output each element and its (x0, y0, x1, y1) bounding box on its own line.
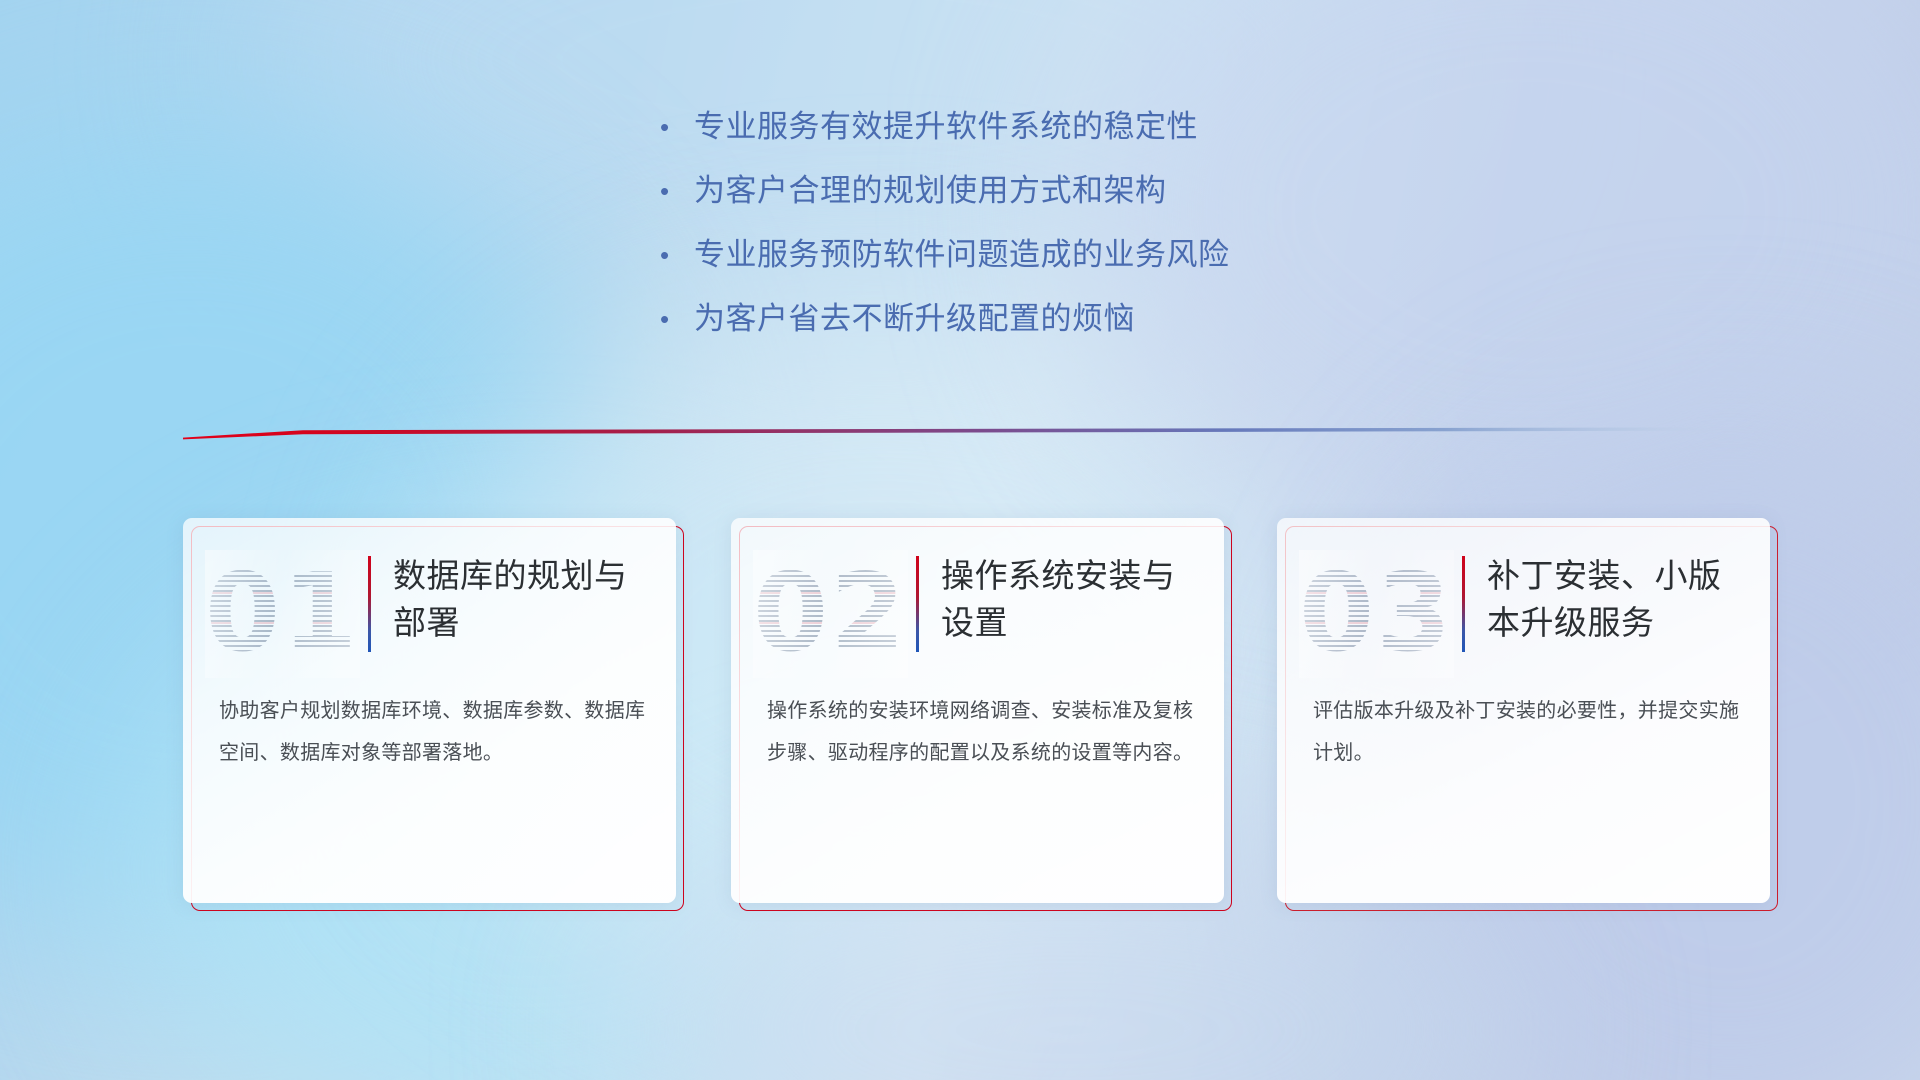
card-panel: 01 01 数据库的规划与部署 协助客户规划数据库环境、数据库参数、数据库空间、… (183, 518, 676, 903)
service-card[interactable]: 01 01 数据库的规划与部署 协助客户规划数据库环境、数据库参数、数据库空间、… (183, 518, 676, 903)
card-header: 03 03 补丁安装、小版本升级服务 (1277, 518, 1770, 686)
card-number-watermark: 02 02 (753, 550, 908, 678)
card-accent-rule (916, 556, 919, 652)
bullet-text: 专业服务预防软件问题造成的业务风险 (694, 236, 1230, 274)
list-item: • 为客户合理的规划使用方式和架构 (660, 172, 1520, 236)
card-body-text: 评估版本升级及补丁安装的必要性，并提交实施计划。 (1277, 686, 1770, 774)
bullet-marker-icon: • (660, 172, 694, 210)
card-panel: 03 03 补丁安装、小版本升级服务 评估版本升级及补丁安装的必要性，并提交实施… (1277, 518, 1770, 903)
list-item: • 专业服务预防软件问题造成的业务风险 (660, 236, 1520, 300)
bullet-marker-icon: • (660, 236, 694, 274)
section-divider (183, 424, 1720, 440)
bullet-marker-icon: • (660, 108, 694, 146)
benefits-bullet-list: • 专业服务有效提升软件系统的稳定性 • 为客户合理的规划使用方式和架构 • 专… (660, 108, 1520, 364)
card-number-tint: 02 (753, 550, 908, 678)
card-body-text: 操作系统的安装环境网络调查、安装标准及复核步骤、驱动程序的配置以及系统的设置等内… (731, 686, 1224, 774)
card-number-tint: 01 (205, 550, 360, 678)
card-title: 数据库的规划与部署 (393, 542, 643, 646)
bullet-marker-icon: • (660, 300, 694, 338)
card-header: 01 01 数据库的规划与部署 (183, 518, 676, 686)
card-title: 操作系统安装与设置 (941, 542, 1191, 646)
card-number-watermark: 01 01 (205, 550, 360, 678)
service-card[interactable]: 03 03 补丁安装、小版本升级服务 评估版本升级及补丁安装的必要性，并提交实施… (1277, 518, 1770, 903)
card-title: 补丁安装、小版本升级服务 (1487, 542, 1737, 646)
card-accent-rule (368, 556, 371, 652)
divider-wedge-icon (183, 424, 1720, 440)
card-accent-rule (1462, 556, 1465, 652)
bullet-text: 为客户合理的规划使用方式和架构 (694, 172, 1167, 210)
list-item: • 专业服务有效提升软件系统的稳定性 (660, 108, 1520, 172)
service-card[interactable]: 02 02 操作系统安装与设置 操作系统的安装环境网络调查、安装标准及复核步骤、… (731, 518, 1224, 903)
card-header: 02 02 操作系统安装与设置 (731, 518, 1224, 686)
list-item: • 为客户省去不断升级配置的烦恼 (660, 300, 1520, 364)
card-number-watermark: 03 03 (1299, 550, 1454, 678)
bullet-text: 专业服务有效提升软件系统的稳定性 (694, 108, 1198, 146)
bullet-text: 为客户省去不断升级配置的烦恼 (694, 300, 1135, 338)
card-body-text: 协助客户规划数据库环境、数据库参数、数据库空间、数据库对象等部署落地。 (183, 686, 676, 774)
service-card-list: 01 01 数据库的规划与部署 协助客户规划数据库环境、数据库参数、数据库空间、… (0, 518, 1920, 918)
card-panel: 02 02 操作系统安装与设置 操作系统的安装环境网络调查、安装标准及复核步骤、… (731, 518, 1224, 903)
card-number-tint: 03 (1299, 550, 1454, 678)
